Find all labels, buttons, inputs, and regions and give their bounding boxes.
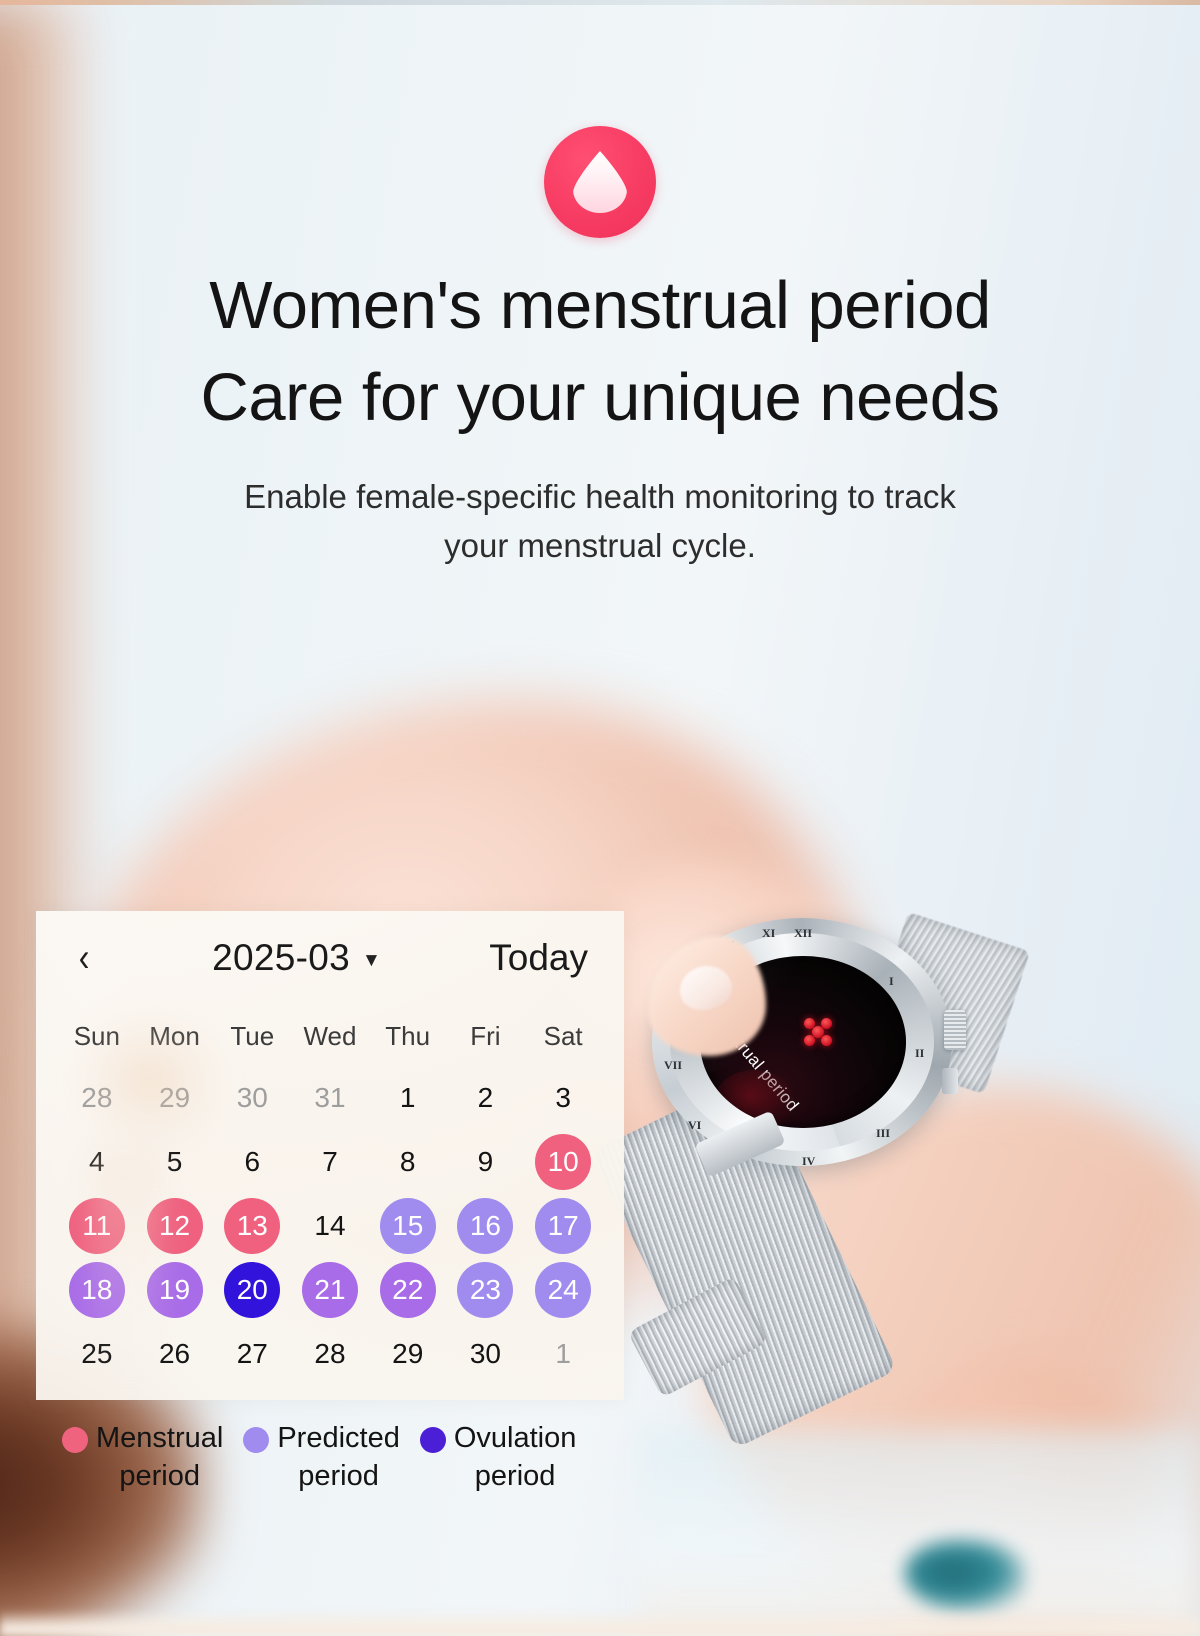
today-button[interactable]: Today xyxy=(489,937,588,979)
day-29-muted: 29 xyxy=(147,1070,203,1126)
menstrual-swatch-icon xyxy=(62,1427,88,1453)
calendar-day-cell[interactable]: 27 xyxy=(213,1322,291,1386)
calendar-day-cell[interactable]: 23 xyxy=(447,1258,525,1322)
calendar-day-cell[interactable]: 30 xyxy=(447,1322,525,1386)
day-7-plain: 7 xyxy=(302,1134,358,1190)
predicted-swatch-icon xyxy=(243,1427,269,1453)
calendar-day-cell[interactable]: 24 xyxy=(524,1258,602,1322)
calendar-day-cell[interactable]: 29 xyxy=(369,1322,447,1386)
calendar-week-row: 28293031123 xyxy=(58,1066,602,1130)
day-18-predicted: 18 xyxy=(69,1262,125,1318)
day-5-plain: 5 xyxy=(147,1134,203,1190)
day-26-plain: 26 xyxy=(147,1326,203,1382)
calendar-day-cell[interactable]: 2 xyxy=(447,1066,525,1130)
calendar-week-row: 11121314151617 xyxy=(58,1194,602,1258)
day-24-predicted: 24 xyxy=(535,1262,591,1318)
calendar-day-cell[interactable]: 18 xyxy=(58,1258,136,1322)
legend-label-line2: period xyxy=(454,1457,577,1495)
calendar-day-cell[interactable]: 25 xyxy=(58,1322,136,1386)
day-4-plain: 4 xyxy=(69,1134,125,1190)
legend-label-line1: Menstrual xyxy=(96,1422,223,1454)
calendar-day-cell[interactable]: 9 xyxy=(447,1130,525,1194)
calendar-weeks: 2829303112345678910111213141516171819202… xyxy=(58,1066,602,1386)
day-1-muted: 1 xyxy=(535,1326,591,1382)
calendar-day-cell[interactable]: 31 xyxy=(291,1066,369,1130)
calendar-day-cell[interactable]: 19 xyxy=(136,1258,214,1322)
day-3-plain: 3 xyxy=(535,1070,591,1126)
bezel-numeral-xii: XII xyxy=(794,926,812,941)
calendar-day-cell[interactable]: 26 xyxy=(136,1322,214,1386)
flower-cluster-icon xyxy=(804,1018,834,1048)
day-27-plain: 27 xyxy=(224,1326,280,1382)
day-14-plain: 14 xyxy=(302,1198,358,1254)
legend-label-line1: Ovulation xyxy=(454,1422,577,1454)
calendar-day-cell[interactable]: 1 xyxy=(524,1322,602,1386)
calendar-day-cell[interactable]: 12 xyxy=(136,1194,214,1258)
calendar-day-cell[interactable]: 8 xyxy=(369,1130,447,1194)
weekday-sun: Sun xyxy=(58,1021,136,1052)
calendar-day-cell[interactable]: 16 xyxy=(447,1194,525,1258)
day-13-menstrual: 13 xyxy=(224,1198,280,1254)
weekday-thu: Thu xyxy=(369,1021,447,1052)
weekday-fri: Fri xyxy=(447,1021,525,1052)
day-28-muted: 28 xyxy=(69,1070,125,1126)
day-6-plain: 6 xyxy=(224,1134,280,1190)
day-22-predicted: 22 xyxy=(380,1262,436,1318)
calendar-day-cell[interactable]: 20 xyxy=(213,1258,291,1322)
day-20-ovulation: 20 xyxy=(224,1262,280,1318)
calendar-day-cell[interactable]: 28 xyxy=(58,1066,136,1130)
day-10-menstrual: 10 xyxy=(535,1134,591,1190)
calendar-day-cell[interactable]: 13 xyxy=(213,1194,291,1258)
day-28-plain: 28 xyxy=(302,1326,358,1382)
day-11-menstrual: 11 xyxy=(69,1198,125,1254)
calendar-day-cell[interactable]: 11 xyxy=(58,1194,136,1258)
page-subtitle: Enable female-specific health monitoring… xyxy=(0,473,1200,571)
menstrual-calendar-panel: ‹ 2025-03 ▼ Today Sun Mon Tue Wed Thu Fr… xyxy=(36,911,624,1400)
legend-item-predicted: Predictedperiod xyxy=(243,1419,400,1496)
hero-section: Women's menstrual period Care for your u… xyxy=(0,0,1200,571)
smartwatch: Female Menstrual period XII I II III IV … xyxy=(646,900,1066,1220)
day-21-predicted: 21 xyxy=(302,1262,358,1318)
bezel-numeral-iv: IV xyxy=(802,1154,815,1169)
chevron-left-icon[interactable]: ‹ xyxy=(79,938,101,978)
weekday-sat: Sat xyxy=(524,1021,602,1052)
page-title: Women's menstrual period Care for your u… xyxy=(0,260,1200,445)
weekday-wed: Wed xyxy=(291,1021,369,1052)
legend-item-ovulation: Ovulationperiod xyxy=(420,1419,577,1496)
page-subtitle-line2: your menstrual cycle. xyxy=(0,522,1200,571)
calendar-day-cell[interactable]: 10 xyxy=(524,1130,602,1194)
legend-label-ovulation: Ovulationperiod xyxy=(454,1419,577,1496)
watch-crown-button[interactable] xyxy=(944,1010,966,1050)
day-19-predicted: 19 xyxy=(147,1262,203,1318)
page-title-line2: Care for your unique needs xyxy=(0,352,1200,444)
legend-label-menstrual: Menstrualperiod xyxy=(96,1419,223,1496)
month-selector[interactable]: 2025-03 ▼ xyxy=(212,937,381,979)
day-29-plain: 29 xyxy=(380,1326,436,1382)
calendar-day-cell[interactable]: 17 xyxy=(524,1194,602,1258)
weekday-header-row: Sun Mon Tue Wed Thu Fri Sat xyxy=(58,1021,602,1052)
legend-item-menstrual: Menstrualperiod xyxy=(62,1419,223,1496)
page-subtitle-line1: Enable female-specific health monitoring… xyxy=(244,478,956,515)
day-25-plain: 25 xyxy=(69,1326,125,1382)
day-8-plain: 8 xyxy=(380,1134,436,1190)
ovulation-swatch-icon xyxy=(420,1427,446,1453)
calendar-week-row: 2526272829301 xyxy=(58,1322,602,1386)
calendar-week-row: 45678910 xyxy=(58,1130,602,1194)
legend-label-predicted: Predictedperiod xyxy=(277,1419,400,1496)
day-9-plain: 9 xyxy=(457,1134,513,1190)
calendar-day-cell[interactable]: 4 xyxy=(58,1130,136,1194)
calendar-day-cell[interactable]: 14 xyxy=(291,1194,369,1258)
watch-side-button[interactable] xyxy=(942,1068,958,1094)
calendar-day-cell[interactable]: 30 xyxy=(213,1066,291,1130)
day-23-predicted: 23 xyxy=(457,1262,513,1318)
legend-label-line2: period xyxy=(96,1457,223,1495)
day-30-muted: 30 xyxy=(224,1070,280,1126)
weekday-mon: Mon xyxy=(136,1021,214,1052)
day-17-predicted: 17 xyxy=(535,1198,591,1254)
calendar-day-cell[interactable]: 15 xyxy=(369,1194,447,1258)
day-31-muted: 31 xyxy=(302,1070,358,1126)
calendar-week-row: 18192021222324 xyxy=(58,1258,602,1322)
calendar-day-cell[interactable]: 21 xyxy=(291,1258,369,1322)
day-30-plain: 30 xyxy=(457,1326,513,1382)
caret-down-icon: ▼ xyxy=(362,950,381,972)
calendar-legend: MenstrualperiodPredictedperiodOvulationp… xyxy=(62,1419,662,1496)
bezel-numeral-i: I xyxy=(889,974,894,989)
drop-shape xyxy=(573,151,627,213)
page-title-line1: Women's menstrual period xyxy=(209,268,991,343)
day-16-predicted: 16 xyxy=(457,1198,513,1254)
day-15-predicted: 15 xyxy=(380,1198,436,1254)
bezel-numeral-vi: VI xyxy=(688,1118,701,1133)
month-label: 2025-03 xyxy=(212,937,350,979)
calendar-day-cell[interactable]: 22 xyxy=(369,1258,447,1322)
day-2-plain: 2 xyxy=(457,1070,513,1126)
weekday-tue: Tue xyxy=(213,1021,291,1052)
calendar-day-cell[interactable]: 7 xyxy=(291,1130,369,1194)
bezel-numeral-vii: VII xyxy=(664,1058,682,1073)
background-bottom-strip xyxy=(0,1610,1200,1636)
calendar-day-cell[interactable]: 3 xyxy=(524,1066,602,1130)
calendar-header: ‹ 2025-03 ▼ Today xyxy=(58,911,602,1005)
calendar-day-cell[interactable]: 29 xyxy=(136,1066,214,1130)
bezel-numeral-iii: III xyxy=(876,1126,890,1141)
calendar-day-cell[interactable]: 5 xyxy=(136,1130,214,1194)
day-1-plain: 1 xyxy=(380,1070,436,1126)
calendar-day-cell[interactable]: 6 xyxy=(213,1130,291,1194)
legend-label-line2: period xyxy=(277,1457,400,1495)
bezel-numeral-ii: II xyxy=(915,1046,924,1061)
calendar-day-cell[interactable]: 1 xyxy=(369,1066,447,1130)
legend-label-line1: Predicted xyxy=(277,1422,400,1454)
blood-drop-icon xyxy=(544,126,656,238)
day-12-menstrual: 12 xyxy=(147,1198,203,1254)
calendar-grid: Sun Mon Tue Wed Thu Fri Sat 282930311234… xyxy=(58,1021,602,1386)
background-table-surface xyxy=(640,1430,1200,1636)
calendar-day-cell[interactable]: 28 xyxy=(291,1322,369,1386)
bezel-numeral-xi: XI xyxy=(762,926,775,941)
